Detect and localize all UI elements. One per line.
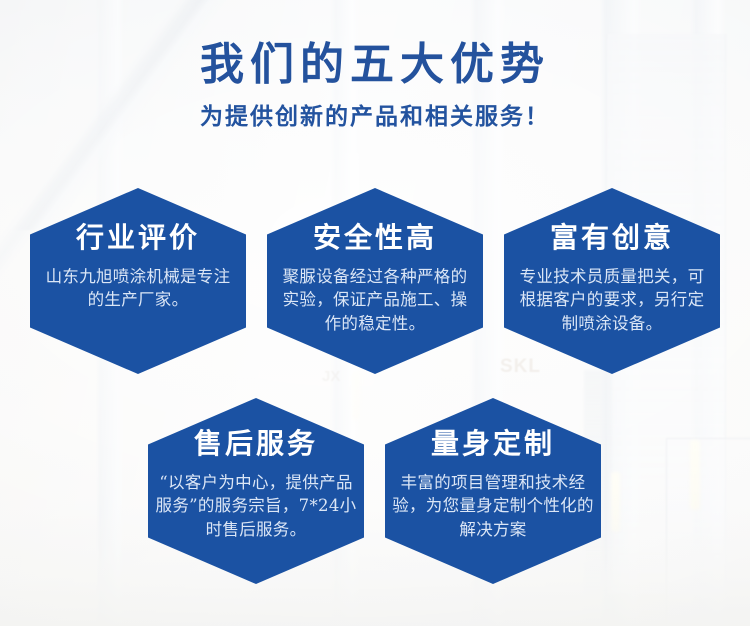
advantage-body: 聚脲设备经过各种严格的实验，保证产品施工、操作的稳定性。	[267, 252, 483, 335]
advantage-body: “以客户为中心，提供产品服务”的服务宗旨，7*24小时售后服务。	[148, 458, 364, 541]
header: 我们的五大优势 为提供创新的产品和相关服务！	[0, 0, 750, 128]
page-title: 我们的五大优势	[0, 0, 750, 87]
advantage-body: 专业技术员质量把关，可根据客户的要求，另行定制喷涂设备。	[504, 252, 720, 335]
page-subtitle: 为提供创新的产品和相关服务！	[0, 87, 750, 128]
advantage-body: 丰富的项目管理和技术经验，为您量身定制个性化的解决方案	[385, 458, 601, 541]
advantage-body: 山东九旭喷涂机械是专注的生产厂家。	[30, 252, 246, 312]
advantages-banner: SKL JX 我们的五大优势 为提供创新的产品和相关服务！ 行业评价 山东九旭喷…	[0, 0, 750, 626]
